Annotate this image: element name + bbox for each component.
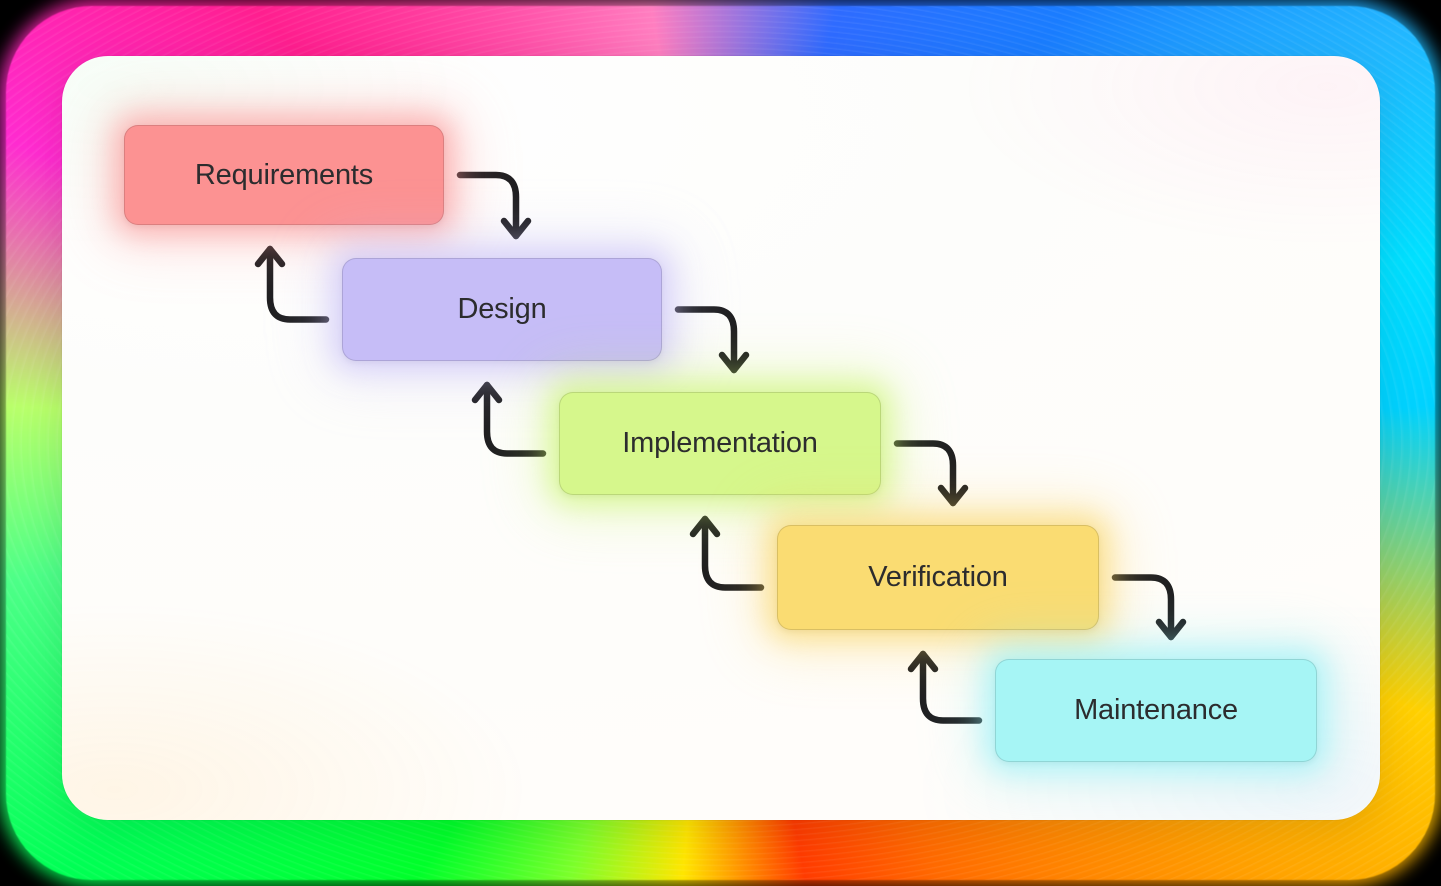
feedback-arrowhead-maintenance-to-verification [911, 654, 935, 669]
flow-arrow-implementation-to-verification [897, 444, 953, 504]
stage-label: Verification [868, 561, 1007, 594]
feedback-arrowhead-verification-to-implementation [693, 519, 717, 534]
flow-arrowhead-implementation-to-verification [941, 488, 965, 503]
flow-arrow-design-to-implementation [678, 310, 734, 371]
stage-label: Implementation [622, 427, 817, 460]
stage-box-requirements[interactable]: Requirements [124, 125, 444, 225]
stage-label: Maintenance [1074, 694, 1238, 727]
flow-arrow-verification-to-maintenance [1115, 578, 1171, 638]
stage-label: Requirements [195, 159, 373, 192]
feedback-arrowhead-design-to-requirements [258, 249, 282, 264]
feedback-arrow-verification-to-implementation [705, 519, 761, 588]
flow-arrowhead-verification-to-maintenance [1159, 622, 1183, 637]
stage-box-design[interactable]: Design [342, 258, 662, 361]
waterfall-diagram: RequirementsDesignImplementationVerifica… [0, 0, 1441, 886]
stage-box-maintenance[interactable]: Maintenance [995, 659, 1317, 762]
feedback-arrow-implementation-to-design [487, 385, 543, 454]
gradient-frame: RequirementsDesignImplementationVerifica… [0, 0, 1441, 886]
flow-arrowhead-requirements-to-design [504, 221, 528, 236]
feedback-arrow-design-to-requirements [270, 249, 326, 320]
stage-box-implementation[interactable]: Implementation [559, 392, 881, 495]
feedback-arrow-maintenance-to-verification [923, 654, 979, 721]
stage-label: Design [457, 293, 546, 326]
feedback-arrowhead-implementation-to-design [475, 385, 499, 400]
flow-arrowhead-design-to-implementation [722, 355, 746, 370]
stage-box-verification[interactable]: Verification [777, 525, 1099, 630]
flow-arrow-requirements-to-design [460, 175, 516, 236]
